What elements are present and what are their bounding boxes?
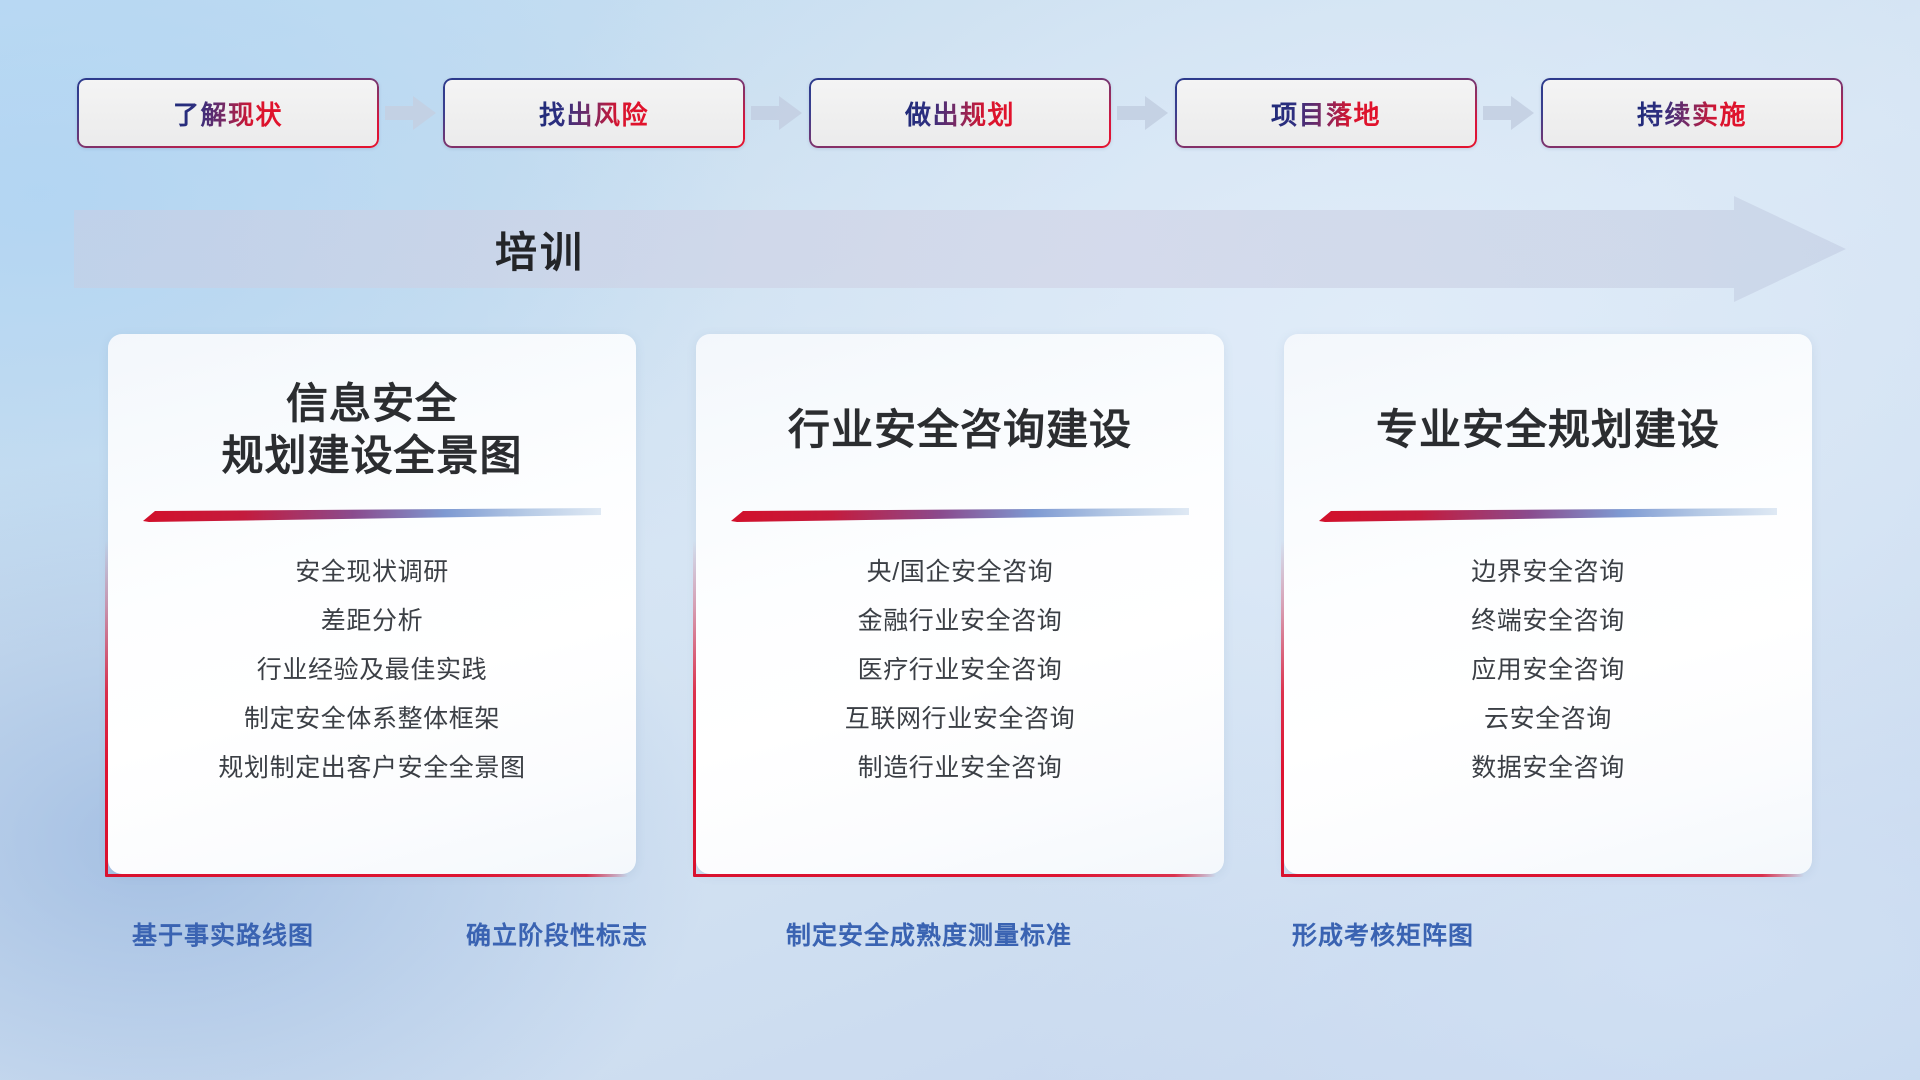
step-box-0[interactable]: 了解现状	[77, 78, 379, 148]
card-list-0: 安全现状调研 差距分析 行业经验及最佳实践 制定安全体系整体框架 规划制定出客户…	[138, 548, 606, 793]
step-label-3: 项目落地	[1271, 95, 1381, 132]
list-item: 制定安全体系整体框架	[138, 695, 606, 744]
footnote-1: 确立阶段性标志	[466, 916, 648, 952]
arrow-right-icon	[1111, 93, 1175, 133]
list-item: 规划制定出客户安全全景图	[138, 744, 606, 793]
step-box-3[interactable]: 项目落地	[1175, 78, 1477, 148]
card-divider-2	[1319, 508, 1777, 522]
list-item: 金融行业安全咨询	[726, 597, 1194, 646]
list-item: 央/国企安全咨询	[726, 548, 1194, 597]
card-list-2: 边界安全咨询 终端安全咨询 应用安全咨询 云安全咨询 数据安全咨询	[1314, 548, 1782, 793]
process-steps: 了解现状 找出风险 做出规划 项目落地	[0, 78, 1920, 148]
arrow-right-icon	[1477, 93, 1541, 133]
step-box-1[interactable]: 找出风险	[443, 78, 745, 148]
footnote-row: 基于事实路线图 确立阶段性标志 制定安全成熟度测量标准 形成考核矩阵图	[0, 916, 1920, 966]
list-item: 行业经验及最佳实践	[138, 646, 606, 695]
arrow-right-icon	[379, 93, 443, 133]
card-2[interactable]: 专业安全规划建设	[1284, 334, 1812, 874]
list-item: 差距分析	[138, 597, 606, 646]
slide-canvas: 了解现状 找出风险 做出规划 项目落地	[0, 0, 1920, 1080]
card-title-2: 专业安全规划建设	[1376, 378, 1720, 482]
step-label-0: 了解现状	[173, 95, 283, 132]
list-item: 制造行业安全咨询	[726, 744, 1194, 793]
card-divider-1	[731, 508, 1189, 522]
step-box-4[interactable]: 持续实施	[1541, 78, 1843, 148]
arrow-right-icon	[745, 93, 809, 133]
card-1[interactable]: 行业安全咨询建设	[696, 334, 1224, 874]
step-box-2[interactable]: 做出规划	[809, 78, 1111, 148]
step-label-4: 持续实施	[1637, 95, 1747, 132]
list-item: 应用安全咨询	[1314, 646, 1782, 695]
card-title-1: 行业安全咨询建设	[788, 378, 1132, 482]
list-item: 医疗行业安全咨询	[726, 646, 1194, 695]
training-band: 培训	[74, 196, 1846, 302]
card-divider-0	[143, 508, 601, 522]
card-row: 信息安全 规划建设全景图	[0, 334, 1920, 874]
list-item: 互联网行业安全咨询	[726, 695, 1194, 744]
step-label-1: 找出风险	[539, 95, 649, 132]
training-band-label-wrap: 培训	[74, 196, 1846, 302]
footnote-3: 形成考核矩阵图	[1292, 916, 1474, 952]
training-band-label: 培训	[495, 219, 585, 280]
list-item: 数据安全咨询	[1314, 744, 1782, 793]
footnote-0: 基于事实路线图	[132, 916, 314, 952]
card-title-0: 信息安全 规划建设全景图	[221, 378, 522, 482]
footnote-2: 制定安全成熟度测量标准	[786, 916, 1072, 952]
list-item: 安全现状调研	[138, 548, 606, 597]
card-0[interactable]: 信息安全 规划建设全景图	[108, 334, 636, 874]
list-item: 终端安全咨询	[1314, 597, 1782, 646]
card-list-1: 央/国企安全咨询 金融行业安全咨询 医疗行业安全咨询 互联网行业安全咨询 制造行…	[726, 548, 1194, 793]
step-label-2: 做出规划	[905, 95, 1015, 132]
list-item: 边界安全咨询	[1314, 548, 1782, 597]
list-item: 云安全咨询	[1314, 695, 1782, 744]
